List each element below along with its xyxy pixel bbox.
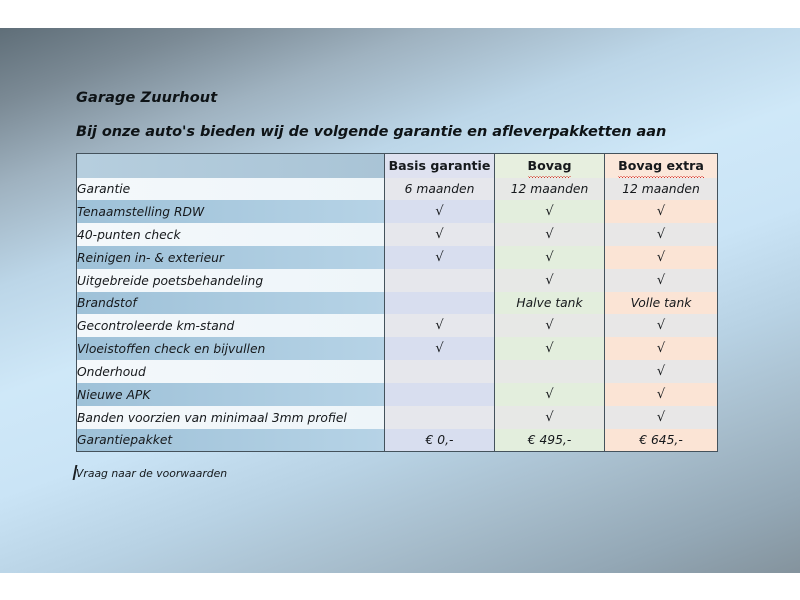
cell-extra: √ [605, 269, 718, 292]
table-row: Tenaamstelling RDW√√√ [77, 200, 718, 223]
cell-basis [385, 360, 495, 383]
check-icon: √ [545, 273, 553, 288]
row-label: Banden voorzien van minimaal 3mm profiel [77, 406, 385, 429]
row-label: Reinigen in- & exterieur [77, 246, 385, 269]
header-cell-label [77, 154, 385, 179]
cell-extra: € 645,- [605, 429, 718, 452]
check-icon: √ [545, 204, 553, 219]
check-icon: √ [545, 341, 553, 356]
row-label: Garantie [77, 178, 385, 200]
table-row: Reinigen in- & exterieur√√√ [77, 246, 718, 269]
cell-bovag: Halve tank [495, 292, 605, 314]
cell-basis: 6 maanden [385, 178, 495, 200]
cell-bovag: √ [495, 200, 605, 223]
check-icon: √ [545, 227, 553, 242]
cell-bovag: √ [495, 223, 605, 246]
check-icon: √ [657, 318, 665, 333]
table-row: Nieuwe APK√√ [77, 383, 718, 406]
table-row: BrandstofHalve tankVolle tank [77, 292, 718, 314]
cell-basis [385, 406, 495, 429]
check-icon: √ [545, 318, 553, 333]
cell-basis: √ [385, 223, 495, 246]
cell-bovag: € 495,- [495, 429, 605, 452]
slide-canvas: Garage Zuurhout Bij onze auto's bieden w… [0, 28, 800, 573]
title-block: Garage Zuurhout Bij onze auto's bieden w… [76, 90, 736, 140]
header-label-basis: Basis garantie [389, 158, 491, 173]
check-icon: √ [545, 410, 553, 425]
cell-bovag: 12 maanden [495, 178, 605, 200]
check-icon: √ [545, 387, 553, 402]
cell-extra: 12 maanden [605, 178, 718, 200]
row-label: Vloeistoffen check en bijvullen [77, 337, 385, 360]
check-icon: √ [657, 273, 665, 288]
check-icon: √ [435, 250, 443, 265]
cell-extra: √ [605, 223, 718, 246]
footnote: Vraag naar de voorwaarden [76, 467, 227, 480]
cell-basis: √ [385, 314, 495, 337]
check-icon: √ [657, 204, 665, 219]
cell-basis [385, 292, 495, 314]
cell-basis: √ [385, 200, 495, 223]
table-row: Onderhoud√ [77, 360, 718, 383]
check-icon: √ [435, 318, 443, 333]
table-row: Gecontroleerde km-stand√√√ [77, 314, 718, 337]
cell-extra: √ [605, 406, 718, 429]
row-label: Nieuwe APK [77, 383, 385, 406]
header-cell-basis: Basis garantie [385, 154, 495, 179]
check-icon: √ [657, 410, 665, 425]
check-icon: √ [435, 341, 443, 356]
check-icon: √ [657, 341, 665, 356]
check-icon: √ [657, 227, 665, 242]
cell-extra: Volle tank [605, 292, 718, 314]
packages-table-wrap: Basis garantieBovagBovag extraGarantie6 … [76, 153, 717, 452]
table-row: Banden voorzien van minimaal 3mm profiel… [77, 406, 718, 429]
check-icon: √ [657, 387, 665, 402]
cell-basis [385, 269, 495, 292]
row-label: Garantiepakket [77, 429, 385, 452]
page-subtitle: Bij onze auto's bieden wij de volgende g… [76, 124, 736, 140]
cell-basis [385, 383, 495, 406]
cell-extra: √ [605, 246, 718, 269]
check-icon: √ [435, 204, 443, 219]
cell-bovag: √ [495, 246, 605, 269]
packages-table: Basis garantieBovagBovag extraGarantie6 … [76, 153, 718, 452]
cell-bovag: √ [495, 314, 605, 337]
check-icon: √ [435, 227, 443, 242]
cell-bovag [495, 360, 605, 383]
cell-basis: √ [385, 337, 495, 360]
cell-basis: √ [385, 246, 495, 269]
table-body: Basis garantieBovagBovag extraGarantie6 … [77, 154, 718, 452]
table-row: 40-punten check√√√ [77, 223, 718, 246]
check-icon: √ [545, 250, 553, 265]
header-cell-bovag: Bovag [495, 154, 605, 179]
header-label-extra: Bovag extra [618, 154, 704, 178]
cell-bovag: √ [495, 406, 605, 429]
cell-extra: √ [605, 314, 718, 337]
row-label: Gecontroleerde km-stand [77, 314, 385, 337]
row-label: Brandstof [77, 292, 385, 314]
page-title: Garage Zuurhout [76, 90, 736, 106]
cell-bovag: √ [495, 269, 605, 292]
row-label: 40-punten check [77, 223, 385, 246]
cell-extra: √ [605, 200, 718, 223]
cell-bovag: √ [495, 383, 605, 406]
table-row: Uitgebreide poetsbehandeling√√ [77, 269, 718, 292]
check-icon: √ [657, 364, 665, 379]
table-row: Garantiepakket€ 0,-€ 495,-€ 645,- [77, 429, 718, 452]
check-icon: √ [657, 250, 665, 265]
cell-extra: √ [605, 360, 718, 383]
row-label: Uitgebreide poetsbehandeling [77, 269, 385, 292]
cell-extra: √ [605, 337, 718, 360]
header-label-bovag: Bovag [528, 154, 572, 178]
row-label: Onderhoud [77, 360, 385, 383]
table-row: Garantie6 maanden12 maanden12 maanden [77, 178, 718, 200]
table-row: Vloeistoffen check en bijvullen√√√ [77, 337, 718, 360]
cell-bovag: √ [495, 337, 605, 360]
cell-basis: € 0,- [385, 429, 495, 452]
header-cell-extra: Bovag extra [605, 154, 718, 179]
table-header-row: Basis garantieBovagBovag extra [77, 154, 718, 179]
cell-extra: √ [605, 383, 718, 406]
row-label: Tenaamstelling RDW [77, 200, 385, 223]
